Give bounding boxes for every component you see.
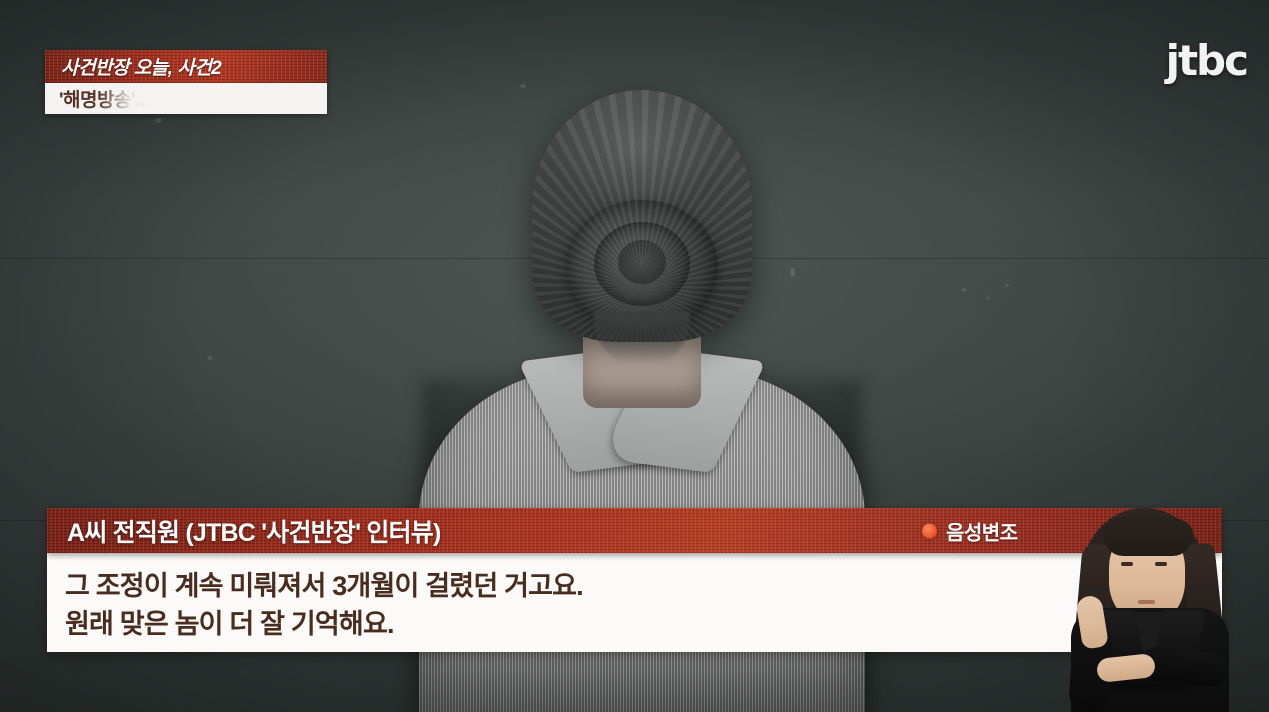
interpreter-mouth: [1138, 600, 1155, 604]
jtbc-logo: jtbc: [1166, 40, 1247, 82]
speaker-tag: A씨: [67, 519, 106, 547]
hair-bun-core: [618, 240, 666, 284]
chalk-mark: [208, 356, 212, 360]
program-subtitle: '해명방송'...: [45, 85, 149, 112]
record-dot-icon: [922, 523, 937, 538]
program-banner-white-bar: '해명방송'...: [45, 83, 327, 114]
chalk-mark: [155, 118, 162, 123]
program-banner-red-bar: 사건반장 오늘, 사건2: [45, 50, 327, 83]
program-title: 사건반장 오늘, 사건2: [45, 53, 221, 80]
interpreter-eye: [1155, 562, 1167, 566]
speaker-bar: A씨 전직원 (JTBC '사건반장' 인터뷰) 음성변조: [47, 508, 1222, 553]
interpreter-eye: [1121, 562, 1133, 566]
subtitle-line: 그 조정이 계속 미뤄져서 3개월이 걸렸던 거고요.: [65, 567, 1222, 605]
chalk-mark: [962, 288, 966, 292]
head-back-view: [532, 90, 752, 342]
sign-language-interpreter: [1063, 500, 1233, 712]
subtitle-line: 원래 맞은 놈이 더 잘 기억해요.: [65, 605, 1222, 643]
speaker-identification: A씨 전직원 (JTBC '사건반장' 인터뷰): [47, 513, 441, 549]
chalk-mark: [986, 296, 989, 299]
chalk-mark: [1005, 284, 1009, 287]
voice-modulation-badge: 음성변조: [922, 516, 1018, 545]
voice-modulation-label: 음성변조: [946, 516, 1018, 545]
broadcast-screenshot: jtbc 사건반장 오늘, 사건2 '해명방송'... A씨 전직원 (JTBC…: [0, 0, 1269, 712]
subtitle-panel: 그 조정이 계속 미뤄져서 3개월이 걸렸던 거고요. 원래 맞은 놈이 더 잘…: [47, 553, 1222, 652]
lower-third: A씨 전직원 (JTBC '사건반장' 인터뷰) 음성변조 그 조정이 계속 미…: [47, 508, 1222, 652]
speaker-description: 전직원 (JTBC '사건반장' 인터뷰): [113, 519, 441, 547]
hair-bun-inner: [594, 222, 690, 306]
program-banner: 사건반장 오늘, 사건2 '해명방송'...: [45, 50, 327, 114]
interpreter-bangs: [1103, 516, 1193, 556]
